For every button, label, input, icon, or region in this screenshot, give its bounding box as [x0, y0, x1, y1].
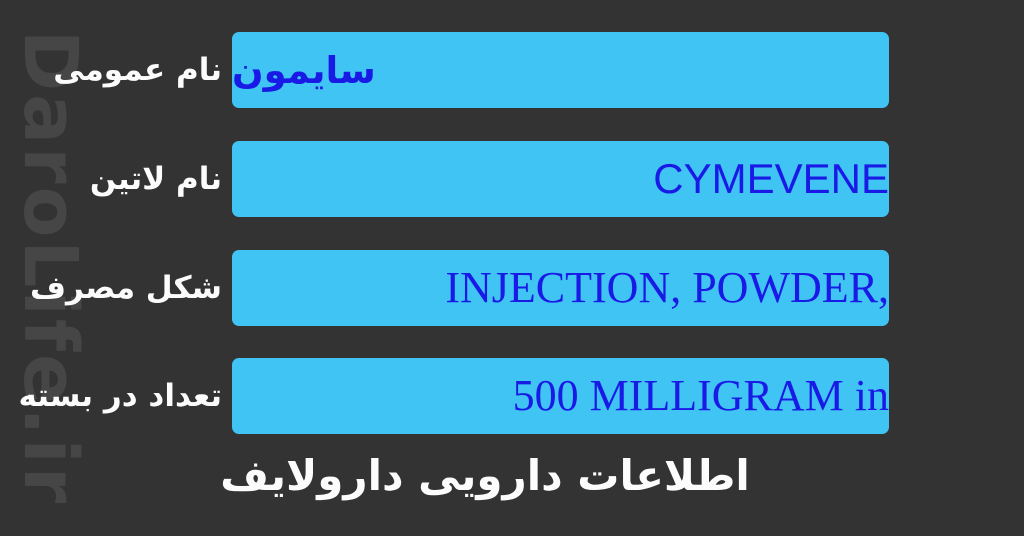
table-row-package-count: تعداد در بسته 500 MILLIGRAM in — [0, 358, 1024, 434]
table-row-latin-name: نام لاتین CYMEVENE — [0, 141, 1024, 217]
value-latin-name: CYMEVENE — [613, 158, 889, 200]
value-box-latin-name: CYMEVENE — [232, 141, 889, 217]
value-box-dosage-form: INJECTION, POWDER, — [232, 250, 889, 326]
value-dosage-form: INJECTION, POWDER, — [405, 266, 889, 310]
drug-info-table: نام عمومی سایمون نام لاتین CYMEVENE شکل … — [0, 0, 1024, 466]
value-generic-name: سایمون — [232, 52, 404, 89]
label-latin-name: نام لاتین — [0, 162, 232, 196]
footer-caption: اطلاعات دارویی دارولایف — [0, 452, 970, 500]
label-package-count: تعداد در بسته — [0, 379, 232, 413]
value-box-generic-name: سایمون — [232, 32, 889, 108]
table-row-generic-name: نام عمومی سایمون — [0, 32, 1024, 108]
label-dosage-form: شکل مصرف — [0, 271, 232, 305]
value-package-count: 500 MILLIGRAM in — [473, 374, 889, 418]
label-generic-name: نام عمومی — [0, 53, 232, 87]
value-box-package-count: 500 MILLIGRAM in — [232, 358, 889, 434]
table-row-dosage-form: شکل مصرف INJECTION, POWDER, — [0, 250, 1024, 326]
